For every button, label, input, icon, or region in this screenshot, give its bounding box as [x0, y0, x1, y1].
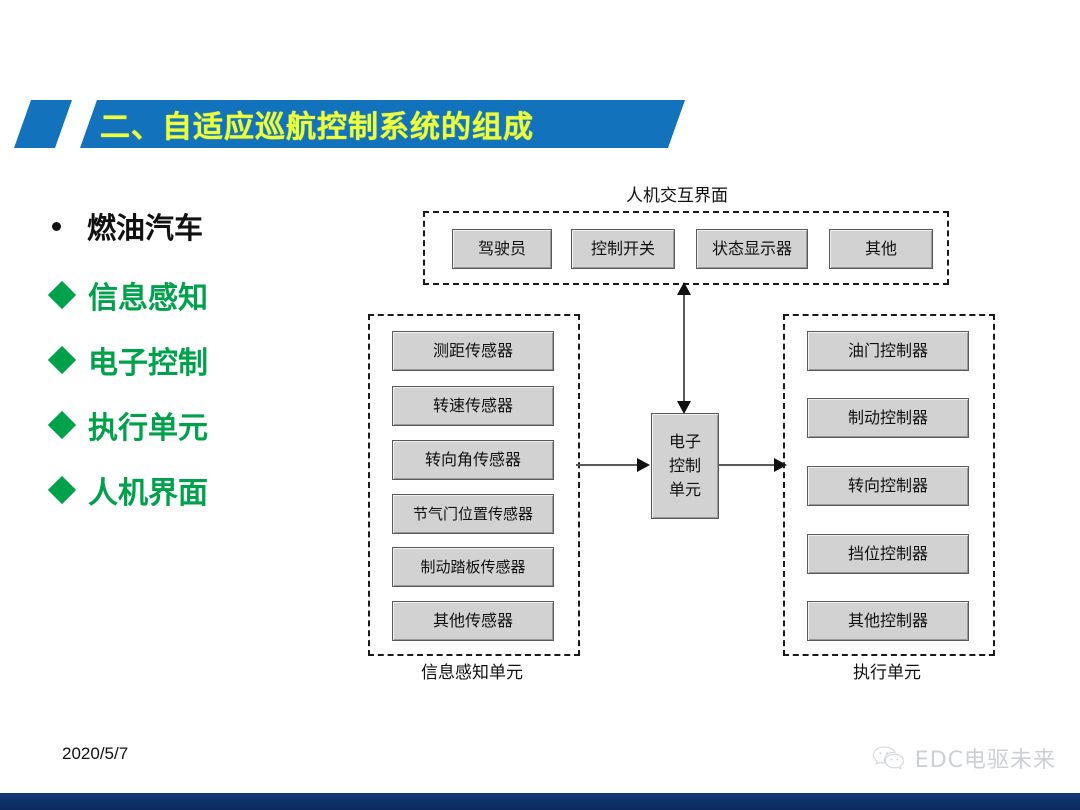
hmi-node-control-switch[interactable]: 控制开关	[571, 229, 675, 269]
watermark: EDC电驱未来	[872, 742, 1056, 774]
sensor-node-throttle-position[interactable]: 节气门位置传感器	[392, 494, 554, 534]
actuator-node-other[interactable]: 其他控制器	[807, 601, 969, 641]
ecu-line-1: 电子	[669, 430, 701, 454]
sensors-group-label: 信息感知单元	[372, 658, 572, 683]
arrow-ecu-hmi-head-up	[677, 282, 691, 295]
hmi-group-label: 人机交互界面	[557, 181, 797, 206]
bottom-bar	[0, 793, 1080, 810]
slide-canvas: 二、自适应巡航控制系统的组成 燃油汽车 信息感知 电子控制 执行单元 人机界面 …	[0, 0, 1080, 810]
block-diagram: 人机交互界面 驾驶员 控制开关 状态显示器 其他 测距传感器 转速传感器 转向角…	[0, 0, 1080, 810]
sensor-node-steering-angle[interactable]: 转向角传感器	[392, 440, 554, 480]
ecu-line-2: 控制	[669, 454, 701, 478]
sensor-node-brake-pedal[interactable]: 制动踏板传感器	[392, 547, 554, 587]
hmi-node-other[interactable]: 其他	[829, 229, 933, 269]
arrow-ecu-actuators-line	[718, 464, 776, 466]
actuators-group-label: 执行单元	[787, 658, 987, 683]
sensor-node-distance[interactable]: 测距传感器	[392, 331, 554, 371]
actuator-node-throttle[interactable]: 油门控制器	[807, 331, 969, 371]
hmi-node-status-display[interactable]: 状态显示器	[696, 229, 808, 269]
watermark-text: EDC电驱未来	[915, 742, 1056, 774]
wechat-icon	[872, 745, 906, 771]
arrow-ecu-hmi-line	[683, 288, 685, 410]
hmi-node-driver[interactable]: 驾驶员	[452, 229, 552, 269]
actuator-node-gear[interactable]: 挡位控制器	[807, 534, 969, 574]
arrow-ecu-hmi-head-down	[677, 401, 691, 414]
actuator-node-brake[interactable]: 制动控制器	[807, 398, 969, 438]
sensor-node-other[interactable]: 其他传感器	[392, 601, 554, 641]
ecu-line-3: 单元	[669, 478, 701, 502]
sensor-node-speed[interactable]: 转速传感器	[392, 386, 554, 426]
ecu-node[interactable]: 电子 控制 单元	[651, 413, 719, 519]
arrow-sensors-ecu-head	[637, 458, 650, 472]
slide-date: 2020/5/7	[62, 744, 128, 764]
arrow-sensors-ecu-line	[576, 464, 638, 466]
actuator-node-steering[interactable]: 转向控制器	[807, 466, 969, 506]
